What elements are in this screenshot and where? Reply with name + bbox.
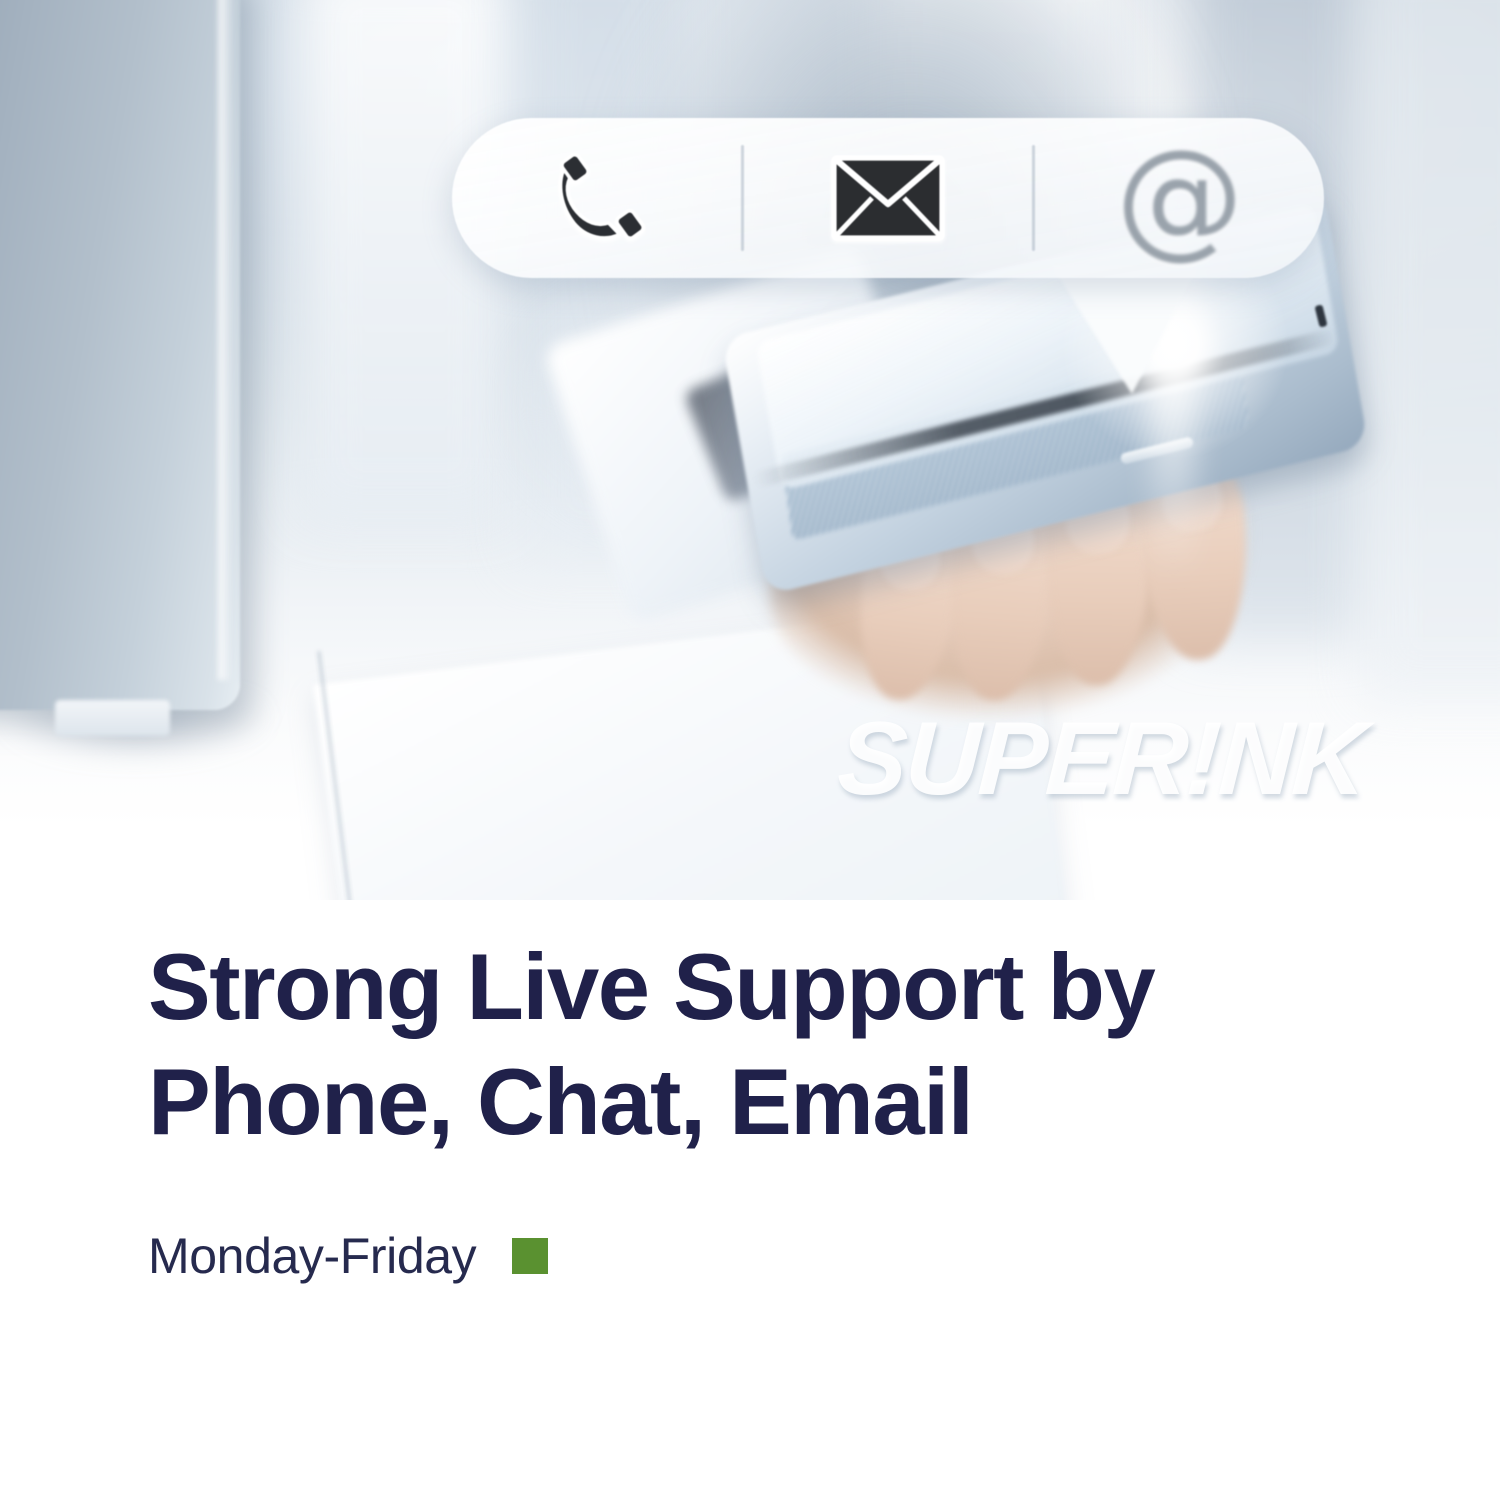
contact-channel-phone[interactable] (452, 118, 741, 278)
page-title: Strong Live Support by Phone, Chat, Emai… (148, 930, 1348, 1159)
support-hero-photo: @ SUPER!NK (0, 0, 1500, 900)
contact-channel-at[interactable]: @ (1035, 118, 1324, 278)
channel-divider (1032, 145, 1035, 251)
channel-divider (741, 145, 744, 251)
brand-watermark: SUPER!NK (835, 700, 1368, 819)
phone-icon (544, 146, 648, 250)
promo-banner: @ SUPER!NK Strong Live Support by Phone,… (0, 0, 1500, 1500)
laptop-body (0, 0, 240, 710)
contact-icons-row: @ (452, 118, 1324, 278)
contact-channel-email[interactable] (744, 118, 1033, 278)
laptop-foot (55, 700, 170, 736)
accent-square-icon (512, 1238, 548, 1274)
bubble-tail (1052, 266, 1198, 394)
envelope-icon (830, 154, 946, 242)
availability-text: Monday-Friday (148, 1231, 476, 1281)
office-blur-band (1360, 0, 1500, 700)
laptop-edge-highlight (218, 0, 234, 680)
text-block: Strong Live Support by Phone, Chat, Emai… (148, 930, 1348, 1281)
contact-channels-bubble[interactable]: @ (452, 118, 1324, 278)
subtitle-row: Monday-Friday (148, 1159, 1348, 1281)
at-sign-icon: @ (1116, 134, 1244, 262)
